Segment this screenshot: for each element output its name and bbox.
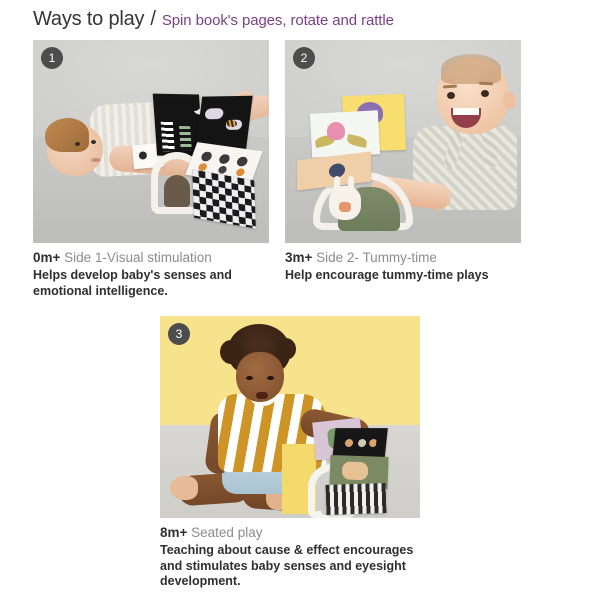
bunny-illustration xyxy=(329,186,361,220)
play-card-2: 2 3m+ Side 2- Tummy-time Help encourage … xyxy=(285,40,521,284)
description-2: Help encourage tummy-time plays xyxy=(285,268,521,284)
baby-mouth xyxy=(91,158,101,162)
play-photo-1: 1 xyxy=(33,40,269,243)
play-photo-2: 2 xyxy=(285,40,521,243)
section-header: Ways to play / Spin book's pages, rotate… xyxy=(33,8,394,31)
section-subtitle: Spin book's pages, rotate and rattle xyxy=(162,12,394,29)
step-badge-1: 1 xyxy=(41,47,63,69)
age-label-1: 0m+ xyxy=(33,250,60,265)
baby-hair xyxy=(441,54,501,84)
description-3: Teaching about cause & effect encourages… xyxy=(160,543,420,590)
play-caption-1: 0m+ Side 1-Visual stimulation Helps deve… xyxy=(33,243,269,299)
baby-eye-right xyxy=(481,90,489,97)
description-1: Helps develop baby's senses and emotiona… xyxy=(33,268,269,299)
tulip-flower xyxy=(327,122,345,140)
baby-eye-right xyxy=(91,140,96,144)
age-label-2: 3m+ xyxy=(285,250,312,265)
toddler-foot-left xyxy=(170,476,198,500)
mode-label-3: Seated play xyxy=(187,525,262,540)
step-badge-3: 3 xyxy=(168,323,190,345)
play-photo-3: 3 xyxy=(160,316,420,518)
play-card-1: 1 0m+ Side 1-Visual stimulation Helps de… xyxy=(33,40,269,299)
baby-ear xyxy=(503,92,516,109)
baby-hair xyxy=(45,118,89,152)
page-title: Ways to play xyxy=(33,8,144,31)
header-separator: / xyxy=(150,8,156,31)
play-card-3: 3 8m+ Seated play Teaching about cause &… xyxy=(160,316,420,590)
play-caption-2: 3m+ Side 2- Tummy-time Help encourage tu… xyxy=(285,243,521,284)
caption-line-1: 0m+ Side 1-Visual stimulation xyxy=(33,249,269,266)
step-badge-2: 2 xyxy=(293,47,315,69)
toddler-eye-right xyxy=(267,376,274,380)
toddler-mouth xyxy=(256,392,268,399)
age-label-3: 8m+ xyxy=(160,525,187,540)
baby-eye-left xyxy=(447,92,455,99)
baby-eye-left xyxy=(75,142,80,146)
caption-line-2: 3m+ Side 2- Tummy-time xyxy=(285,249,521,266)
caption-line-3: 8m+ Seated play xyxy=(160,524,420,541)
mode-label-2: Side 2- Tummy-time xyxy=(312,250,437,265)
mode-label-1: Side 1-Visual stimulation xyxy=(60,250,211,265)
book-page-striped xyxy=(325,483,386,515)
toddler-eye-left xyxy=(246,376,253,380)
ways-to-play-section: Ways to play / Spin book's pages, rotate… xyxy=(0,0,600,600)
play-caption-3: 8m+ Seated play Teaching about cause & e… xyxy=(160,518,420,590)
